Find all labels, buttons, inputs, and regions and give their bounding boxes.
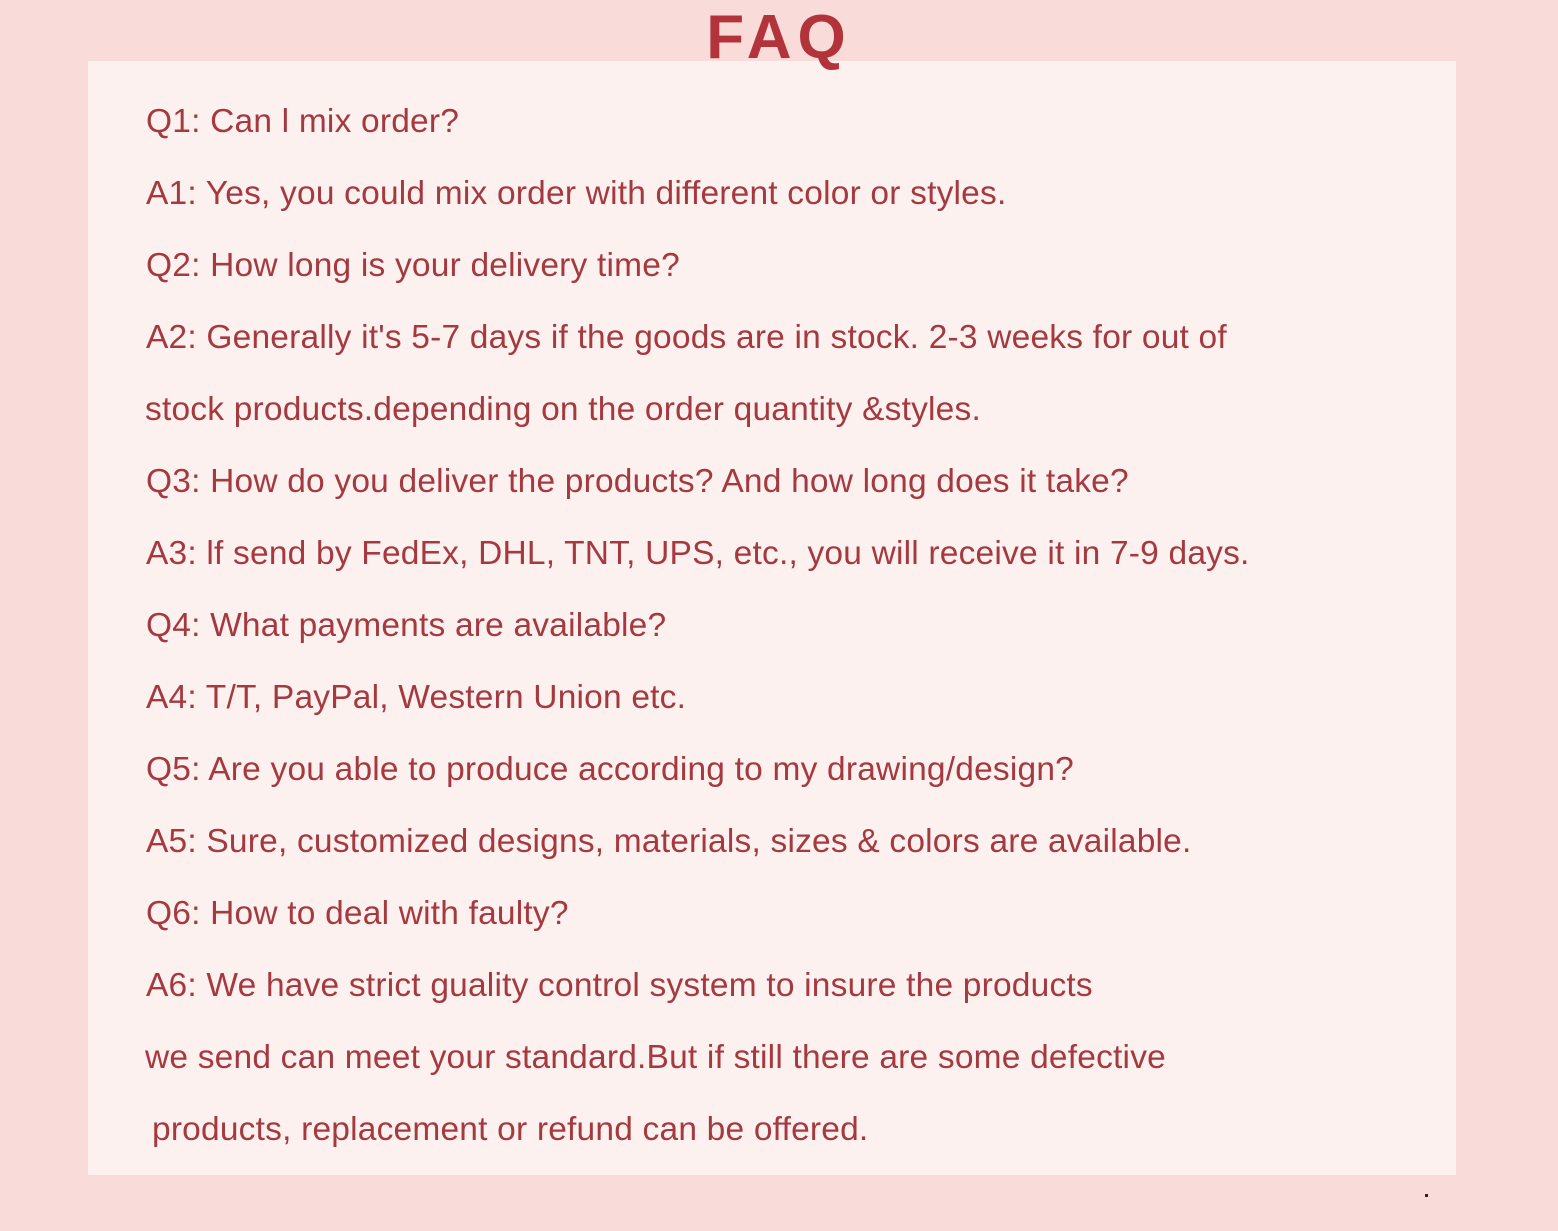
faq-answer-4: A4: T/T, PayPal, Western Union etc. xyxy=(146,662,1446,734)
faq-answer-6-cont-1: we send can meet your standard.But if st… xyxy=(145,1022,1446,1094)
faq-answer-6-cont-2: products, replacement or refund can be o… xyxy=(152,1094,1446,1166)
faq-question-5: Q5: Are you able to produce according to… xyxy=(146,734,1446,806)
faq-answer-5: A5: Sure, customized designs, materials,… xyxy=(146,806,1446,878)
faq-answer-6: A6: We have strict guality control syste… xyxy=(146,950,1446,1022)
faq-question-2: Q2: How long is your delivery time? xyxy=(146,230,1446,302)
faq-answer-3: A3: lf send by FedEx, DHL, TNT, UPS, etc… xyxy=(146,518,1446,590)
faq-question-1: Q1: Can l mix order? xyxy=(146,86,1446,158)
faq-question-4: Q4: What payments are available? xyxy=(146,590,1446,662)
faq-answer-2-cont: stock products.depending on the order qu… xyxy=(145,374,1446,446)
faq-answer-1: A1: Yes, you could mix order with differ… xyxy=(146,158,1446,230)
faq-line-list: Q1: Can l mix order? A1: Yes, you could … xyxy=(146,86,1446,1166)
faq-page: FAQ Q1: Can l mix order? A1: Yes, you co… xyxy=(0,0,1558,1231)
speckle-artifact xyxy=(1425,1194,1428,1197)
faq-question-3: Q3: How do you deliver the products? And… xyxy=(146,446,1446,518)
page-title: FAQ xyxy=(0,2,1558,74)
faq-answer-2: A2: Generally it's 5-7 days if the goods… xyxy=(146,302,1446,374)
faq-question-6: Q6: How to deal with faulty? xyxy=(146,878,1446,950)
